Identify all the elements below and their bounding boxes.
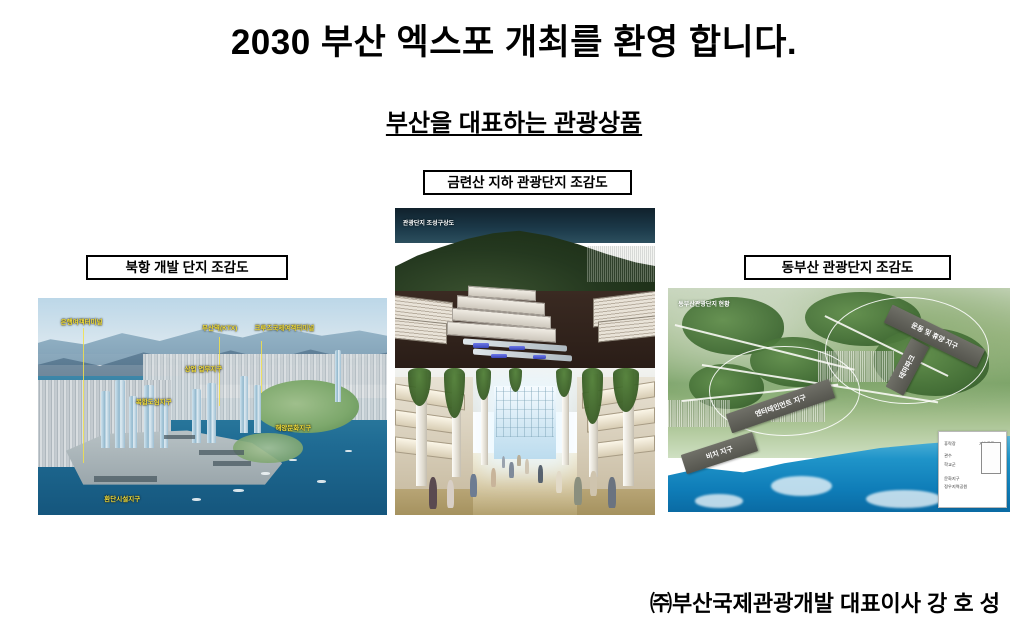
footer-signature: ㈜부산국제관광개발 대표이사 강 호 성 — [0, 586, 1000, 618]
legend-row-1: 휴락장 — [944, 441, 956, 447]
overlay-label-east-busan-status: 동부산관광단지 현황 — [678, 299, 729, 308]
train-car-2 — [509, 346, 525, 350]
pedestrian-8 — [556, 471, 562, 493]
image-geumnyeonsan-underground-cutaway: 관광단지 조성구상도 — [395, 208, 655, 368]
pier-3 — [94, 476, 157, 482]
train-car-3 — [491, 354, 507, 358]
distant-city-lights — [587, 246, 655, 281]
pedestrian-5 — [509, 462, 514, 478]
map-label-facility-district: 환단시설지구 — [104, 493, 140, 503]
pedestrian-4 — [491, 468, 496, 487]
boat-5 — [192, 498, 202, 501]
tower-8 — [240, 376, 248, 432]
page-title: 2030 부산 엑스포 개최를 환영 합니다. — [0, 14, 1028, 65]
image-east-busan-tourism-aerial: 동부산관광단지 현황 테마파크 엔터테인먼트 지구 운동 및 휴양 지구 비치 … — [668, 288, 1010, 512]
page-subtitle: 부산을 대표하는 관광상품 — [0, 103, 1028, 138]
pedestrian-3 — [470, 474, 476, 498]
glass-mullion-grid — [496, 387, 553, 437]
legend-row-5: 정우지역공원 — [944, 484, 967, 490]
tower-1 — [101, 391, 110, 447]
pedestrian-11 — [608, 477, 616, 508]
sea-foam-3 — [695, 494, 743, 507]
legend-row-2: 관수 — [944, 453, 952, 459]
pedestrian-9 — [574, 477, 581, 505]
leader-line-3 — [261, 341, 262, 393]
tower-2 — [115, 380, 125, 447]
tower-9 — [254, 385, 261, 433]
legend-row-4: 문화지구 — [944, 476, 959, 482]
leader-line-1 — [83, 328, 84, 463]
map-label-mixed-center-district: 복합도심지구 — [136, 396, 172, 406]
overlay-label-complex-plan: 관광단지 조성구상도 — [403, 218, 454, 227]
caption-right-east-busan: 동부산 관광단지 조감도 — [744, 255, 951, 280]
map-label-cruise-terminal: 크루즈국제여객터미널 — [254, 322, 314, 332]
legend-swatch-box — [981, 442, 1001, 474]
pedestrian-7 — [538, 465, 543, 483]
landmark-tower — [335, 350, 341, 402]
tower-4 — [144, 385, 154, 448]
pedestrian-10 — [590, 471, 597, 496]
boat-3 — [233, 489, 243, 492]
presentation-slide: 2030 부산 엑스포 개최를 환영 합니다. 부산을 대표하는 관광상품 금련… — [0, 0, 1028, 632]
image-underground-mall-interior — [395, 368, 655, 515]
pedestrian-12 — [502, 456, 506, 468]
pedestrian-13 — [517, 455, 520, 467]
map-label-busan-station: 부산역(KTX) — [202, 322, 237, 332]
pedestrian-1 — [429, 477, 437, 509]
map-label-marine-culture-district: 해양문화지구 — [275, 422, 311, 432]
map-label-commercial-district: 상업 업무지구 — [185, 363, 223, 373]
caption-left-bukhang: 북항 개발 단지 조감도 — [86, 255, 288, 280]
pier-4 — [164, 435, 195, 439]
image-bukhang-development-aerial: 은행여객터미널 부산역(KTX) 크루즈국제여객터미널 상업 업무지구 복합도심… — [38, 298, 387, 515]
sea-foam-2 — [866, 490, 941, 508]
legend-row-3: 학교군 — [944, 462, 956, 468]
pedestrian-2 — [447, 480, 454, 508]
pedestrian-6 — [525, 459, 529, 474]
legend-card: 휴락장 관수 학교군 문화지구 정우지역공원 기술공장 — [938, 431, 1006, 507]
pier-2 — [213, 461, 251, 466]
train-car-1 — [473, 343, 489, 347]
boat-1 — [261, 472, 270, 475]
map-label-eunhaeng-terminal: 은행여객터미널 — [61, 316, 103, 326]
train-car-4 — [533, 355, 546, 359]
tower-5 — [160, 400, 168, 448]
tower-7 — [207, 383, 215, 444]
caption-center-geumnyeonsan: 금련산 지하 관광단지 조감도 — [423, 170, 632, 195]
boat-4 — [317, 480, 325, 483]
pier-1 — [199, 450, 244, 455]
